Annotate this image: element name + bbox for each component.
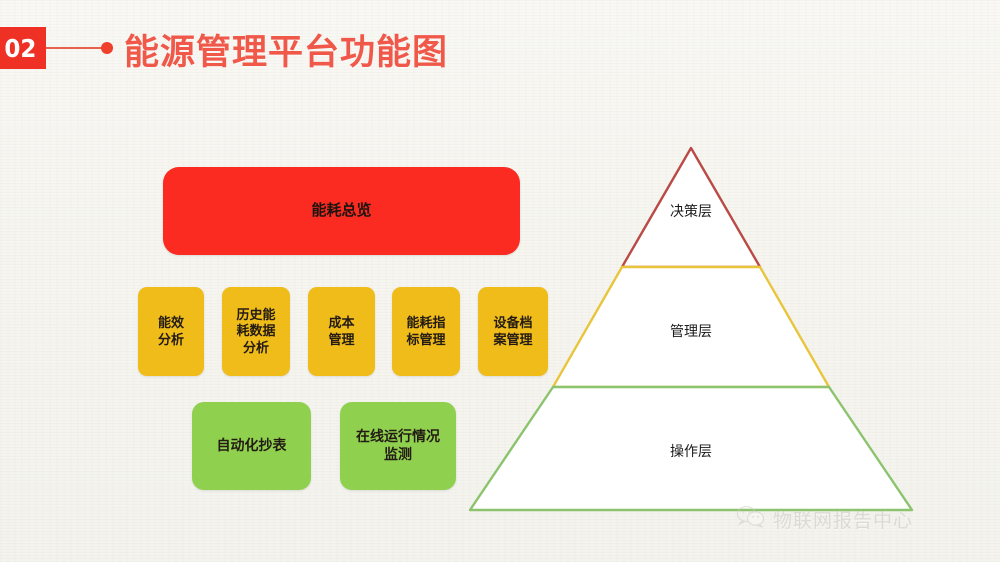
section-number-label: 02	[4, 34, 36, 63]
pyramid-layer-label-decision: 决策层	[670, 201, 712, 221]
watermark: 物联网报告中心	[736, 505, 913, 534]
pyramid-layer-label-management: 管理层	[670, 321, 712, 341]
function-box-automatic-meter-reading[interactable]: 自动化抄表	[192, 402, 311, 490]
function-box-energy-efficiency-analysis[interactable]: 能效分析	[138, 287, 204, 376]
function-box-label: 成本管理	[328, 315, 354, 348]
function-box-cost-management[interactable]: 成本管理	[308, 287, 375, 376]
slide-canvas: 02 能源管理平台功能图 能耗总览 能效分析 历史能耗数据分析 成本管理 能耗指…	[0, 0, 1000, 562]
function-box-label: 在线运行情况监测	[356, 428, 440, 463]
wechat-icon	[736, 505, 766, 534]
function-box-label: 自动化抄表	[217, 437, 287, 455]
function-box-history-energy-data-analysis[interactable]: 历史能耗数据分析	[222, 287, 290, 376]
function-box-energy-index-management[interactable]: 能耗指标管理	[392, 287, 460, 376]
watermark-label: 物联网报告中心	[773, 506, 913, 533]
function-box-label: 能耗指标管理	[406, 315, 445, 348]
pyramid-layer-label-operation: 操作层	[670, 441, 712, 461]
function-box-label: 能效分析	[158, 315, 184, 348]
page-title: 能源管理平台功能图	[124, 24, 448, 75]
section-number-badge: 02	[0, 27, 46, 69]
hierarchy-pyramid: 决策层 管理层 操作层	[455, 135, 935, 525]
function-box-label: 能耗总览	[311, 202, 371, 221]
function-box-online-operation-monitoring[interactable]: 在线运行情况监测	[340, 402, 456, 490]
function-box-label: 历史能耗数据分析	[236, 307, 275, 356]
header-connector-dot	[101, 42, 113, 54]
header-connector-line	[46, 47, 104, 49]
